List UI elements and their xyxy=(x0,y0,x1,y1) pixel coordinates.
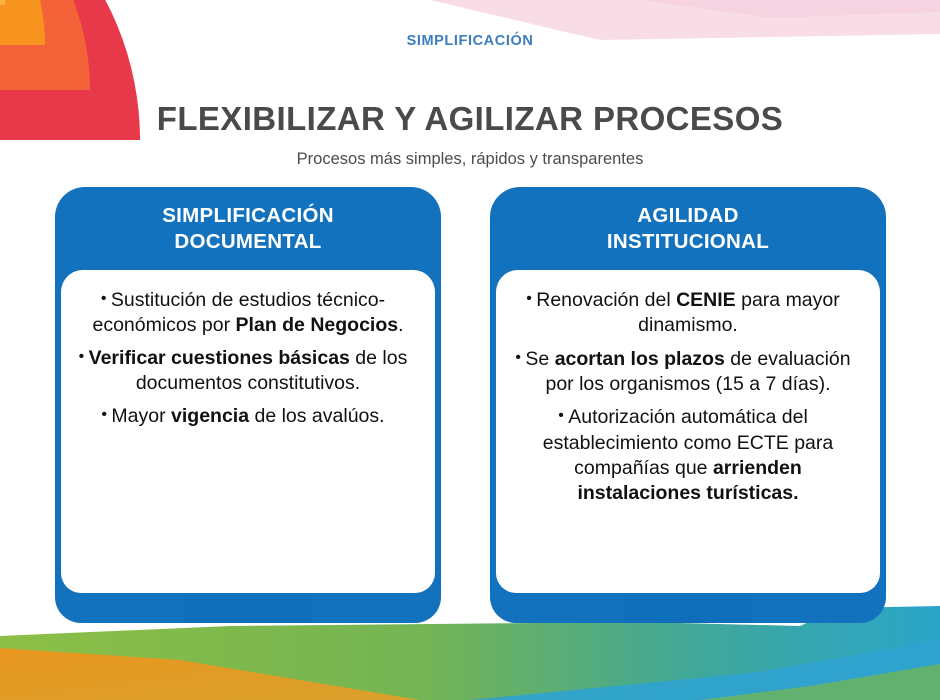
bullet-text: . xyxy=(398,314,403,336)
list-item: Sustitución de estudios técnico-económic… xyxy=(75,288,421,338)
card-tab-left[interactable] xyxy=(184,599,312,623)
card-header-right-line1: AGILIDAD xyxy=(607,203,769,229)
card-body-left: Sustitución de estudios técnico-económic… xyxy=(61,270,435,593)
bullet-text-emphasis: acortan los plazos xyxy=(555,348,725,370)
card-header-left-line1: SIMPLIFICACIÓN xyxy=(162,203,334,229)
slide-canvas: SIMPLIFICACIÓN FLEXIBILIZAR Y AGILIZAR P… xyxy=(0,0,940,700)
page-title: FLEXIBILIZAR Y AGILIZAR PROCESOS xyxy=(0,100,940,138)
bullet-list-right: Renovación del CENIE para mayor dinamism… xyxy=(510,288,866,515)
bullet-text-emphasis: vigencia xyxy=(171,405,249,427)
card-tab-right[interactable] xyxy=(624,599,752,623)
bullet-text-emphasis: Plan de Negocios xyxy=(236,314,399,336)
bullet-text: Se xyxy=(525,348,554,370)
card-header-left: SIMPLIFICACIÓN DOCUMENTAL xyxy=(55,187,441,270)
list-item: Verificar cuestiones básicas de los docu… xyxy=(75,346,421,396)
bullet-list-left: Sustitución de estudios técnico-económic… xyxy=(75,288,421,437)
card-header-right-line2: INSTITUCIONAL xyxy=(607,229,769,255)
list-item: Se acortan los plazos de evaluación por … xyxy=(510,347,866,398)
card-simplificacion-documental: SIMPLIFICACIÓN DOCUMENTAL Sustitución de… xyxy=(55,187,441,623)
bullet-text: Mayor xyxy=(111,405,171,427)
bullet-text: Renovación del xyxy=(536,289,676,311)
list-item: Renovación del CENIE para mayor dinamism… xyxy=(510,288,866,339)
slide-eyebrow: SIMPLIFICACIÓN xyxy=(0,33,940,49)
card-body-right: Renovación del CENIE para mayor dinamism… xyxy=(496,270,880,593)
slide-subtitle: Procesos más simples, rápidos y transpar… xyxy=(0,150,940,169)
card-header-right: AGILIDAD INSTITUCIONAL xyxy=(490,187,886,270)
list-item: Mayor vigencia de los avalúos. xyxy=(75,404,421,429)
bullet-text-emphasis: Verificar cuestiones básicas xyxy=(89,347,350,369)
list-item: Autorización automática del establecimie… xyxy=(510,405,866,506)
card-header-left-line2: DOCUMENTAL xyxy=(162,229,334,255)
bullet-text: de los avalúos. xyxy=(249,405,385,427)
bullet-text-emphasis: CENIE xyxy=(676,289,736,311)
card-agilidad-institucional: AGILIDAD INSTITUCIONAL Renovación del CE… xyxy=(490,187,886,623)
